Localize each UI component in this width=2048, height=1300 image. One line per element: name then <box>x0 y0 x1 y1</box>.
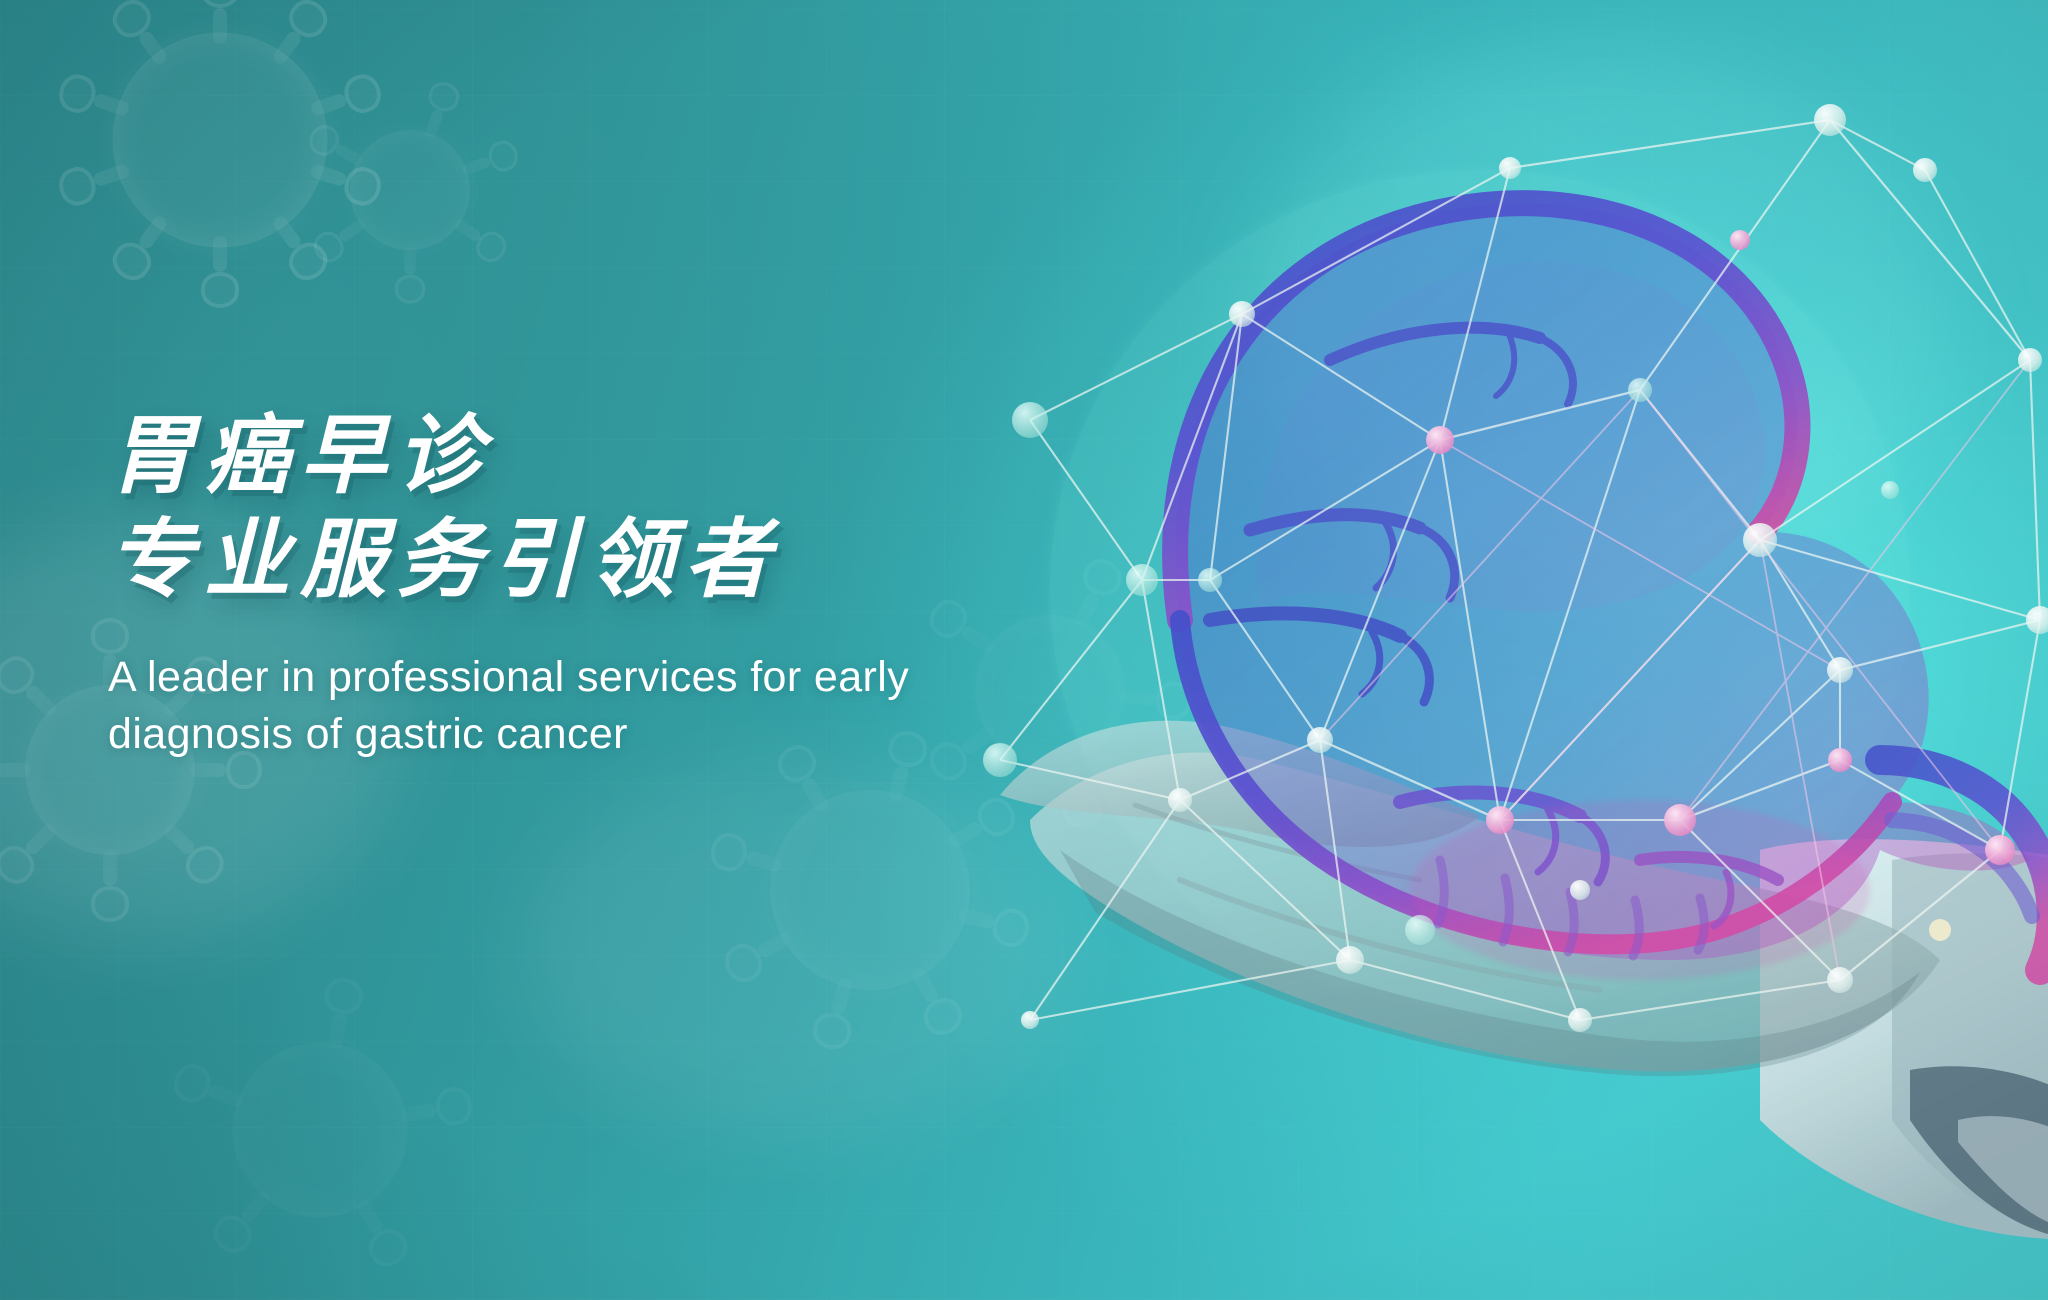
hero-text-block: 胃癌早诊 专业服务引领者 A leader in professional se… <box>108 408 1108 764</box>
subtitle-line-1: A leader in professional services for ea… <box>108 649 938 707</box>
subtitle: A leader in professional services for ea… <box>108 649 938 764</box>
headline-line-1: 胃癌早诊 <box>108 408 1108 504</box>
subtitle-line-2: diagnosis of gastric cancer <box>108 706 938 764</box>
headline-line-2: 专业服务引领者 <box>108 512 1108 608</box>
antrum-glow <box>1410 800 1870 980</box>
hero-banner: 胃癌早诊 专业服务引领者 A leader in professional se… <box>0 0 2048 1300</box>
